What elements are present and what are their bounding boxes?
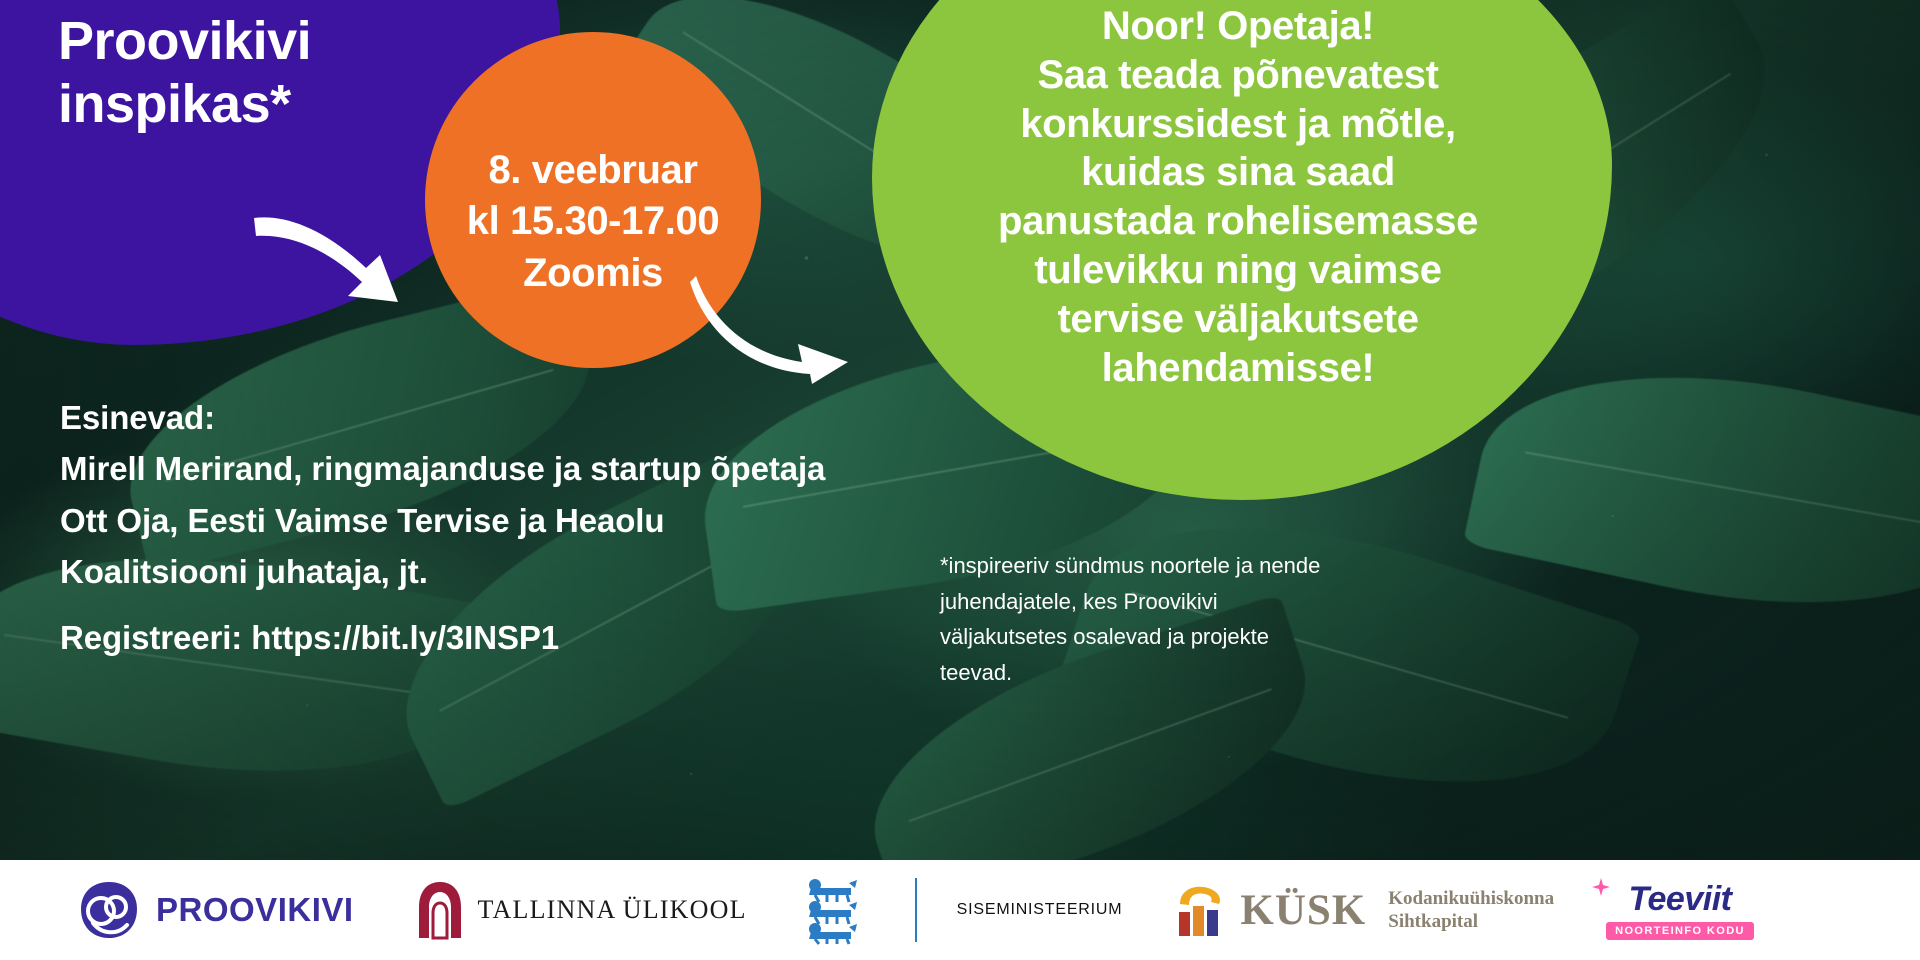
registration-line[interactable]: Registreeri: https://bit.ly/3INSP1 [60,612,960,663]
logo-kusk-subtitle: Kodanikuühiskonna Sihtkapital [1388,887,1554,933]
logo-siseministeerium[interactable]: SISEMINISTEERIUM [799,860,1123,960]
logo-siseministeerium-label: SISEMINISTEERIUM [957,901,1123,919]
logo-kusk-label: KÜSK [1240,886,1366,935]
purple-badge-line2: inspikas* [58,73,478,136]
curved-arrow-right-icon [690,270,860,385]
green-line-0: Noor! Opetaja! [888,2,1588,51]
speakers-heading: Esinevad: [60,392,960,443]
logo-teeviit-label: Teeviit [1606,880,1754,919]
green-line-1: Saa teada põnevatest [888,51,1588,100]
footer-divider [915,878,917,942]
footnote-text: *inspireeriv sündmus noortele ja nende j… [940,548,1340,691]
logo-teeviit-sub: NOORTEINFO KODU [1606,922,1754,940]
estonia-three-lions-icon [799,875,861,945]
teeviit-wrap: Teeviit NOORTEINFO KODU [1606,880,1754,940]
speakers-spacer [60,598,960,612]
speaker-line-2: Koalitsiooni juhataja, jt. [60,546,960,597]
poster-canvas: Proovikivi inspikas* 8. veebruar kl 15.3… [0,0,1920,960]
curved-arrow-left-icon [250,210,440,320]
logo-tallinna-ulikool[interactable]: TALLINNA ÜLIKOOL [416,860,747,960]
speaker-line-0: Mirell Merirand, ringmajanduse ja startu… [60,443,960,494]
logo-proovikivi-label: PROOVIKIVI [156,891,354,929]
kusk-bars-icon [1174,882,1228,938]
logo-proovikivi[interactable]: PROOVIKIVI [78,860,354,960]
purple-badge-line1: Proovikivi [58,10,478,73]
sponsor-footer: PROOVIKIVI TALLINNA ÜLIKOOL [0,860,1920,960]
green-message-text: Noor! Opetaja! Saa teada põnevatest konk… [888,2,1588,392]
tlu-arch-icon [416,879,464,941]
logo-tlu-label: TALLINNA ÜLIKOOL [478,895,747,925]
green-line-4: panustada rohelisemasse [888,197,1588,246]
green-line-6: tervise väljakutsete [888,295,1588,344]
logo-kusk-sub1: Kodanikuühiskonna [1388,887,1554,910]
speaker-line-1: Ott Oja, Eesti Vaimse Tervise ja Heaolu [60,495,960,546]
green-line-2: konkurssidest ja mõtle, [888,100,1588,149]
logo-kusk[interactable]: KÜSK Kodanikuühiskonna Sihtkapital [1174,860,1554,960]
event-details-text: 8. veebruar kl 15.30-17.00 Zoomis [467,145,719,299]
purple-badge-text: Proovikivi inspikas* [58,10,478,135]
event-time: kl 15.30-17.00 [467,196,719,247]
green-line-7: lahendamisse! [888,344,1588,393]
speakers-block: Esinevad: Mirell Merirand, ringmajanduse… [60,392,960,663]
green-line-5: tulevikku ning vaimse [888,246,1588,295]
logo-kusk-sub2: Sihtkapital [1388,910,1554,933]
logo-teeviit[interactable]: Teeviit NOORTEINFO KODU [1606,860,1754,960]
event-date: 8. veebruar [467,145,719,196]
green-line-3: kuidas sina saad [888,148,1588,197]
event-platform: Zoomis [467,248,719,299]
teeviit-sparkle-icon [1590,876,1612,898]
proovikivi-mark-icon [78,879,140,941]
